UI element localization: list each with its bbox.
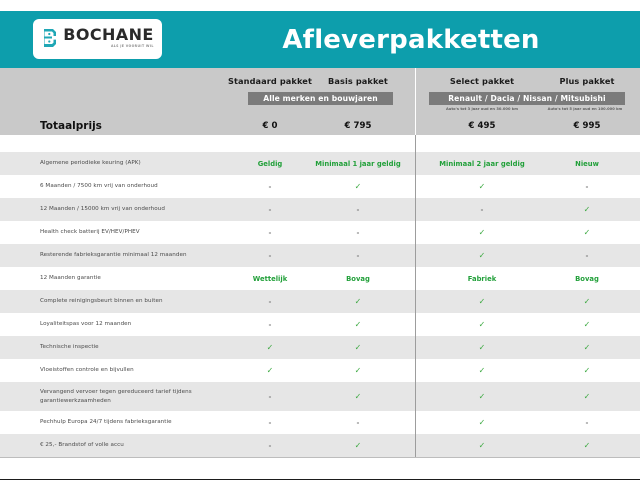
row-label: Health check batterij EV/HEV/PHEV	[40, 221, 240, 244]
table-row: Vloeistoffen controle en bijvullen✓✓✓✓	[0, 359, 640, 382]
cell-select: ✓	[432, 336, 532, 359]
row-label: € 25,- Brandstof of volle accu	[40, 434, 240, 457]
cell-basis: Minimaal 1 jaar geldig	[318, 152, 398, 175]
bochane-mark-icon	[41, 27, 58, 49]
cell-plus: ✓	[542, 290, 632, 313]
table-row: Resterende fabrieksgarantie minimaal 12 …	[0, 244, 640, 267]
cell-plus: ✓	[542, 434, 632, 457]
cell-standaard: -	[225, 313, 315, 336]
column-title-standaard: Standaard pakket	[225, 76, 315, 86]
table-bottom-rule	[0, 457, 640, 458]
cell-basis: ✓	[318, 290, 398, 313]
bochane-logo[interactable]: BOCHANE ALS JE VOORUIT WIL	[33, 19, 162, 59]
header-gap	[0, 135, 640, 152]
section-divider-header-mask	[415, 68, 416, 135]
row-label: Complete reinigingsbeurt binnen en buite…	[40, 290, 240, 313]
cell-plus: ✓	[542, 359, 632, 382]
cell-standaard: -	[225, 382, 315, 411]
cell-standaard: -	[225, 244, 315, 267]
price-plus: € 995	[542, 118, 632, 135]
cell-select: Minimaal 2 jaar geldig	[432, 152, 532, 175]
table-row: Pechhulp Europa 24/7 tijdens fabrieksgar…	[0, 411, 640, 434]
cell-select: ✓	[432, 313, 532, 336]
cell-select: Fabriek	[432, 267, 532, 290]
column-sub-select: Auto's tot 3 jaar oud en 30.000 km	[432, 107, 532, 111]
cell-standaard: Wettelijk	[225, 267, 315, 290]
table-row: Vervangend vervoer tegen gereduceerd tar…	[0, 382, 640, 411]
brand-header: BOCHANE ALS JE VOORUIT WIL Afleverpakket…	[0, 11, 640, 68]
table-row: 6 Maanden / 7500 km vrij van onderhoud-✓…	[0, 175, 640, 198]
cell-plus: -	[542, 244, 632, 267]
cell-basis: ✓	[318, 434, 398, 457]
total-price-label: Totaalprijs	[40, 118, 102, 135]
cell-select: ✓	[432, 382, 532, 411]
total-price-row: Totaalprijs € 0 € 795 € 495 € 995	[0, 118, 640, 135]
column-title-basis: Basis pakket	[318, 76, 398, 86]
band-alle-merken: Alle merken en bouwjaren	[248, 92, 393, 105]
logo-wordmark: BOCHANE	[63, 27, 153, 43]
row-label: Vervangend vervoer tegen gereduceerd tar…	[40, 382, 240, 411]
cell-basis: ✓	[318, 313, 398, 336]
column-title-plus: Plus pakket	[542, 76, 632, 86]
cell-standaard: ✓	[225, 336, 315, 359]
cell-select: ✓	[432, 244, 532, 267]
cell-select: ✓	[432, 221, 532, 244]
page-title: Afleverpakketten	[182, 11, 640, 68]
afleverpakketten-page: BOCHANE ALS JE VOORUIT WIL Afleverpakket…	[0, 0, 640, 480]
cell-standaard: ✓	[225, 359, 315, 382]
cell-plus: ✓	[542, 382, 632, 411]
price-select: € 495	[432, 118, 532, 135]
table-row: Health check batterij EV/HEV/PHEV--✓✓	[0, 221, 640, 244]
cell-plus: ✓	[542, 336, 632, 359]
row-label: Pechhulp Europa 24/7 tijdens fabrieksgar…	[40, 411, 240, 434]
row-label: 12 Maanden / 15000 km vrij van onderhoud	[40, 198, 240, 221]
cell-plus: ✓	[542, 221, 632, 244]
cell-plus: ✓	[542, 313, 632, 336]
row-label: Vloeistoffen controle en bijvullen	[40, 359, 240, 382]
cell-plus: -	[542, 411, 632, 434]
table-row: 12 Maanden / 15000 km vrij van onderhoud…	[0, 198, 640, 221]
table-row: Loyaliteitspas voor 12 maanden-✓✓✓	[0, 313, 640, 336]
cell-plus: Nieuw	[542, 152, 632, 175]
column-sub-plus: Auto's tot 5 jaar oud en 100.000 km	[535, 107, 635, 111]
cell-standaard: -	[225, 221, 315, 244]
row-label: 6 Maanden / 7500 km vrij van onderhoud	[40, 175, 240, 198]
column-title-select: Select pakket	[432, 76, 532, 86]
row-label: Technische inspectie	[40, 336, 240, 359]
cell-standaard: -	[225, 411, 315, 434]
cell-basis: -	[318, 198, 398, 221]
cell-plus: ✓	[542, 198, 632, 221]
cell-standaard: -	[225, 434, 315, 457]
cell-plus: -	[542, 175, 632, 198]
price-basis: € 795	[318, 118, 398, 135]
table-row: Complete reinigingsbeurt binnen en buite…	[0, 290, 640, 313]
cell-basis: ✓	[318, 359, 398, 382]
cell-select: ✓	[432, 411, 532, 434]
row-label: Resterende fabrieksgarantie minimaal 12 …	[40, 244, 240, 267]
table-row: € 25,- Brandstof of volle accu-✓✓✓	[0, 434, 640, 457]
cell-basis: ✓	[318, 382, 398, 411]
table-row: Algemene periodieke keuring (APK)GeldigM…	[0, 152, 640, 175]
cell-basis: -	[318, 221, 398, 244]
cell-standaard: Geldig	[225, 152, 315, 175]
cell-basis: -	[318, 244, 398, 267]
cell-basis: ✓	[318, 336, 398, 359]
cell-select: ✓	[432, 290, 532, 313]
cell-standaard: -	[225, 175, 315, 198]
table-row: Technische inspectie✓✓✓✓	[0, 336, 640, 359]
price-standaard: € 0	[225, 118, 315, 135]
cell-standaard: -	[225, 290, 315, 313]
cell-standaard: -	[225, 198, 315, 221]
cell-select: ✓	[432, 434, 532, 457]
cell-basis: -	[318, 411, 398, 434]
logo-tagline: ALS JE VOORUIT WIL	[111, 45, 154, 48]
cell-select: -	[432, 198, 532, 221]
row-label: 12 Maanden garantie	[40, 267, 240, 290]
table-row: 12 Maanden garantieWettelijkBovagFabriek…	[0, 267, 640, 290]
row-label: Algemene periodieke keuring (APK)	[40, 152, 240, 175]
cell-select: ✓	[432, 175, 532, 198]
cell-plus: Bovag	[542, 267, 632, 290]
feature-table: Algemene periodieke keuring (APK)GeldigM…	[0, 152, 640, 457]
cell-select: ✓	[432, 359, 532, 382]
band-renault-dacia-nissan-mitsubishi: Renault / Dacia / Nissan / Mitsubishi	[429, 92, 625, 105]
cell-basis: Bovag	[318, 267, 398, 290]
cell-basis: ✓	[318, 175, 398, 198]
row-label: Loyaliteitspas voor 12 maanden	[40, 313, 240, 336]
